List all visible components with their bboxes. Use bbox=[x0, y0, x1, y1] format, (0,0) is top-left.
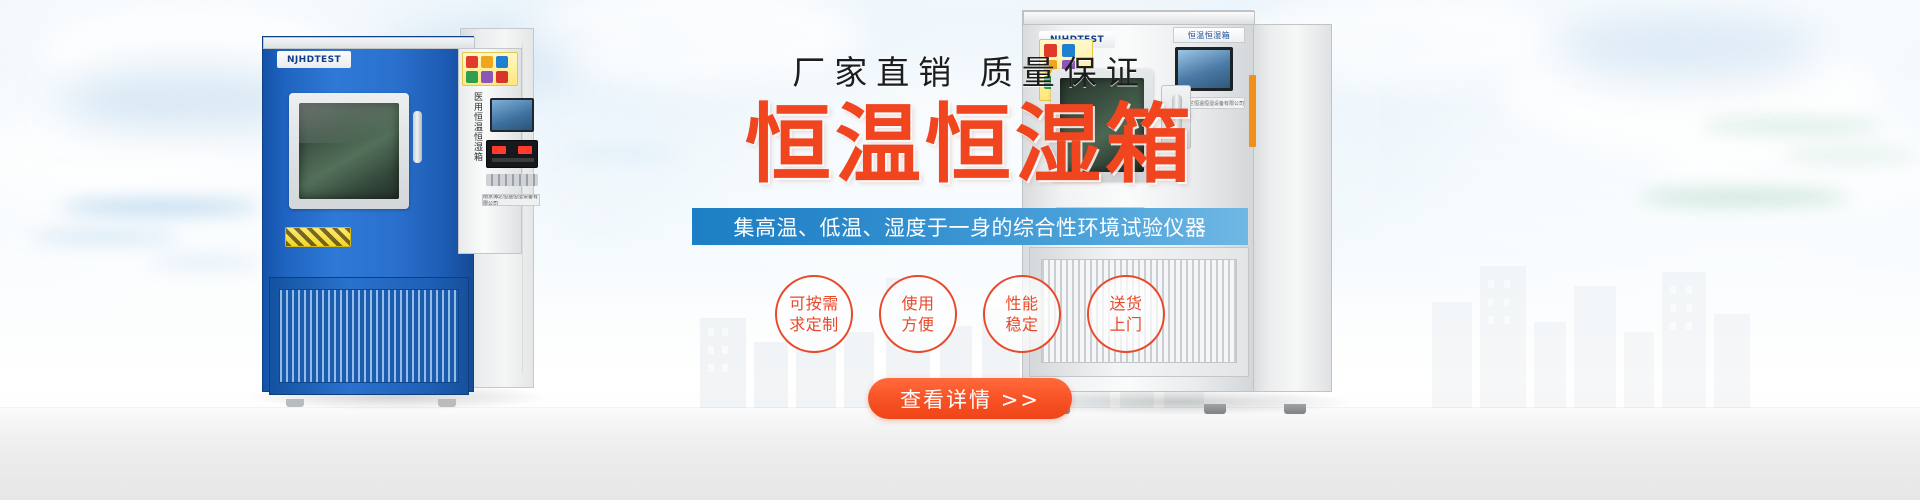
digital-readout-panel bbox=[486, 140, 538, 168]
status-indicator-strip bbox=[1249, 75, 1256, 147]
cloud-streak bbox=[30, 232, 180, 242]
chamber-top-cap bbox=[1023, 11, 1255, 25]
ventilation-grille bbox=[279, 289, 459, 383]
vertical-model-label: 医用恒温恒湿箱 bbox=[470, 92, 484, 196]
subtitle-text: 集高温、低温、湿度于一身的综合性环境试验仪器 bbox=[734, 212, 1207, 242]
eyebrow-tagline: 厂家直销 质量保证 bbox=[690, 56, 1250, 89]
chamber-foot bbox=[438, 399, 456, 407]
chamber-top-cap bbox=[263, 37, 475, 49]
badge-line-1: 可按需 bbox=[789, 293, 839, 314]
cloud-tint-blue bbox=[1560, 20, 1820, 80]
chamber-front-body: NJHDTEST bbox=[262, 36, 474, 392]
brand-logo-left: NJHDTEST bbox=[277, 51, 351, 68]
chamber-side-panel bbox=[1244, 24, 1332, 392]
feature-badge-easy-use[interactable]: 使用 方便 bbox=[879, 275, 957, 353]
window-glare bbox=[299, 103, 399, 143]
hazard-stripe-label bbox=[285, 227, 351, 247]
badge-line-1: 送货 bbox=[1109, 293, 1142, 314]
cloud-streak bbox=[150, 258, 260, 267]
feature-badge-delivery[interactable]: 送货 上门 bbox=[1087, 275, 1165, 353]
safety-pictogram-label bbox=[462, 52, 518, 86]
badge-line-2: 方便 bbox=[901, 314, 934, 335]
badge-line-2: 稳定 bbox=[1005, 314, 1038, 335]
chamber-foot bbox=[1284, 404, 1306, 414]
control-touchscreen[interactable] bbox=[490, 98, 534, 132]
badge-line-2: 上门 bbox=[1109, 314, 1142, 335]
banner-headline: 恒温恒湿箱 bbox=[690, 100, 1250, 190]
cloud-streak bbox=[1700, 120, 1880, 132]
cloud-streak bbox=[60, 200, 260, 214]
city-skyline-silhouette-right bbox=[1420, 202, 1800, 412]
product-image-left-chamber: NJHDTEST 医用恒温恒湿箱 南京海达恒温恒湿设备有限公司 bbox=[262, 28, 534, 400]
feature-badge-custom[interactable]: 可按需 求定制 bbox=[775, 275, 853, 353]
viewing-window-frame bbox=[289, 93, 409, 209]
badge-line-1: 使用 bbox=[901, 293, 934, 314]
badge-line-2: 求定制 bbox=[789, 314, 839, 335]
door-handle bbox=[413, 111, 422, 163]
subtitle-bar: 集高温、低温、湿度于一身的综合性环境试验仪器 bbox=[692, 208, 1248, 245]
badge-line-1: 性能 bbox=[1005, 293, 1038, 314]
panel-seam bbox=[522, 43, 523, 373]
cloud-streak bbox=[560, 150, 680, 158]
view-details-button[interactable]: 查看详情 >> bbox=[868, 378, 1072, 419]
feature-badge-stable[interactable]: 性能 稳定 bbox=[983, 275, 1061, 353]
banner-copy-block: 厂家直销 质量保证 恒温恒湿箱 集高温、低温、湿度于一身的综合性环境试验仪器 可… bbox=[690, 40, 1250, 460]
cloud-streak bbox=[1780, 150, 1920, 160]
control-button-row[interactable] bbox=[486, 174, 538, 186]
product-banner: NJHDTEST 医用恒温恒湿箱 南京海达恒温恒湿设备有限公司 NJHDTEST bbox=[0, 0, 1920, 500]
feature-badge-row: 可按需 求定制 使用 方便 性能 稳定 送货 上门 bbox=[696, 268, 1244, 360]
chamber-foot bbox=[286, 399, 304, 407]
spec-plate-left: 南京海达恒温恒湿设备有限公司 bbox=[482, 194, 540, 206]
